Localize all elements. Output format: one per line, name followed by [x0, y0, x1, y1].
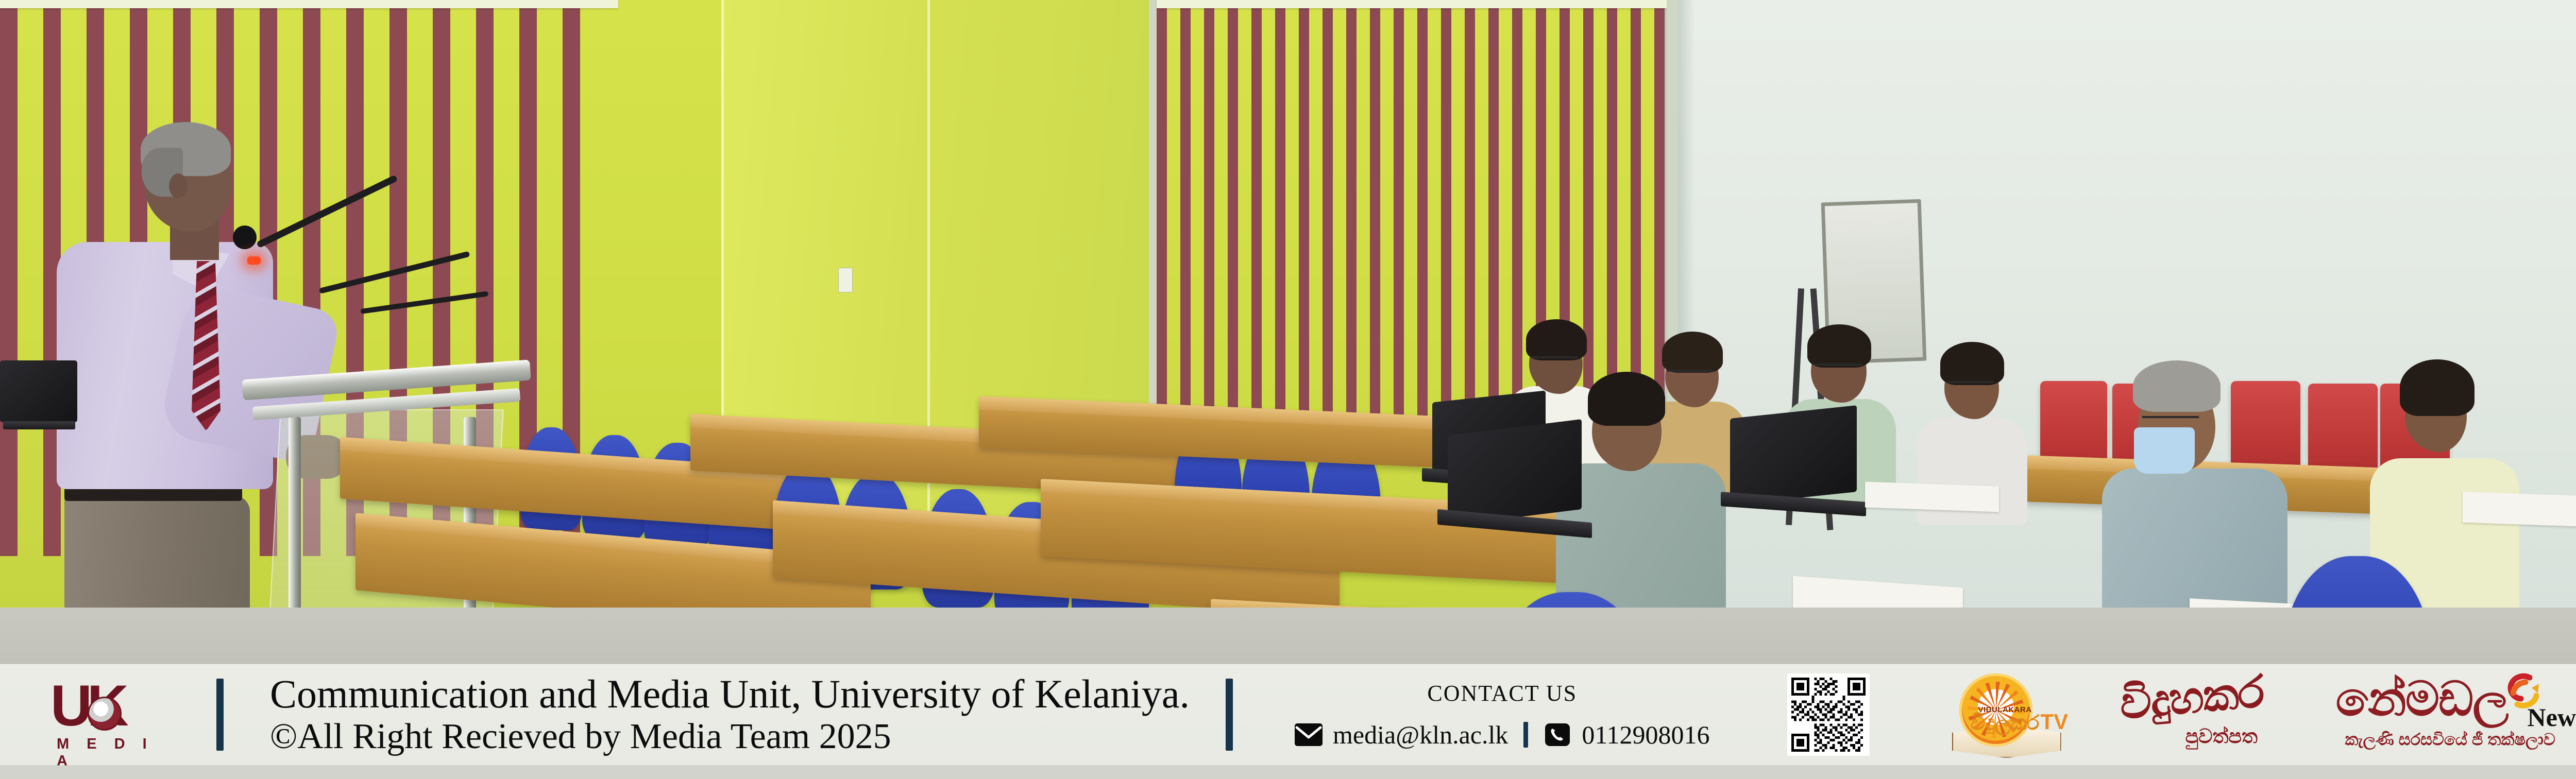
blind-slat	[1441, 0, 1451, 422]
envelope-icon	[1295, 723, 1323, 746]
blind-slat	[1465, 0, 1475, 422]
contact-block: CONTACT US media@kln.ac.lk 0112908016	[1295, 680, 1710, 750]
divider	[1523, 722, 1528, 748]
event-photograph	[0, 0, 2576, 779]
laptop	[1437, 427, 1592, 546]
screenshot-root: UK M E D I A Communication and Media Uni…	[0, 0, 2576, 779]
nemandala-name-si: නේමඩල	[2336, 676, 2508, 723]
contact-details: media@kln.ac.lk 0112908016	[1295, 720, 1710, 750]
vidulakara-name-si: විදුලකර	[1964, 713, 2046, 733]
viduhakara-subtitle-si: පුවත්පත	[2185, 726, 2258, 748]
blind-slat	[1488, 0, 1499, 422]
banner-title: Communication and Media Unit, University…	[270, 672, 1190, 757]
paper-stack	[1865, 481, 1999, 512]
blind-slat	[1370, 0, 1380, 422]
viduhakara-name-si: විදුහකර	[2117, 669, 2265, 725]
blind-slat	[1180, 0, 1191, 422]
blind-slat	[1346, 0, 1357, 422]
laptop	[1721, 412, 1865, 525]
microphone-led	[247, 256, 261, 265]
divider	[216, 679, 224, 751]
attendee	[2102, 350, 2287, 638]
viduhakara-newspaper-logo: විදුහකර පුවත්පත	[2120, 672, 2290, 757]
paper-stack	[2463, 492, 2576, 528]
camera-aperture-icon	[88, 697, 122, 731]
page-title: Communication and Media Unit, University…	[270, 672, 1190, 716]
nemandala-name-en: Newspaper	[2528, 702, 2576, 732]
blind-slat	[1323, 0, 1333, 422]
qr-code-icon[interactable]	[1787, 673, 1870, 756]
blind-slat	[1228, 0, 1238, 422]
blind-slat	[1204, 0, 1214, 422]
blind-slat	[1417, 0, 1428, 422]
blind-rail	[0, 0, 618, 8]
nemandala-newspaper-logo: නේමඩල කැලණි සරසවියේ ජී තක්ෂලාව Newspaper	[2336, 672, 2576, 757]
blind-rail	[1157, 0, 1677, 8]
divider	[1226, 679, 1233, 751]
stage-monitor	[0, 360, 77, 458]
blind-slat	[1394, 0, 1404, 422]
contact-email[interactable]: media@kln.ac.lk	[1333, 720, 1508, 750]
uok-media-logo: UK M E D I A	[50, 676, 179, 753]
contact-heading: CONTACT US	[1295, 680, 1710, 706]
blind-slat	[0, 0, 18, 556]
vidulakara-tv-logo: විදුලකර VIDULAKARA TV	[1952, 672, 2071, 757]
blind-slat	[1251, 0, 1262, 422]
vidulakara-name-en: VIDULAKARA	[1967, 705, 2044, 714]
nemandala-subtitle-si: කැලණි සරසවියේ ජී තක්ෂලාව	[2345, 730, 2555, 750]
microphone-icon	[233, 226, 257, 249]
phone-icon	[1544, 723, 1571, 746]
blind-slat	[1157, 0, 1167, 422]
footer-banner: UK M E D I A Communication and Media Uni…	[0, 664, 2576, 765]
blind-slat	[1299, 0, 1309, 422]
copyright-line: ©All Right Recieved by Media Team 2025	[270, 716, 1190, 757]
vidulakara-tv-suffix: TV	[2041, 709, 2069, 734]
contact-phone[interactable]: 0112908016	[1582, 720, 1709, 750]
blind-slat	[1607, 0, 1617, 422]
footer-strip	[0, 765, 2576, 779]
attendee	[1917, 330, 2027, 510]
wall-socket-icon	[838, 268, 853, 292]
blind-slat	[1275, 0, 1285, 422]
